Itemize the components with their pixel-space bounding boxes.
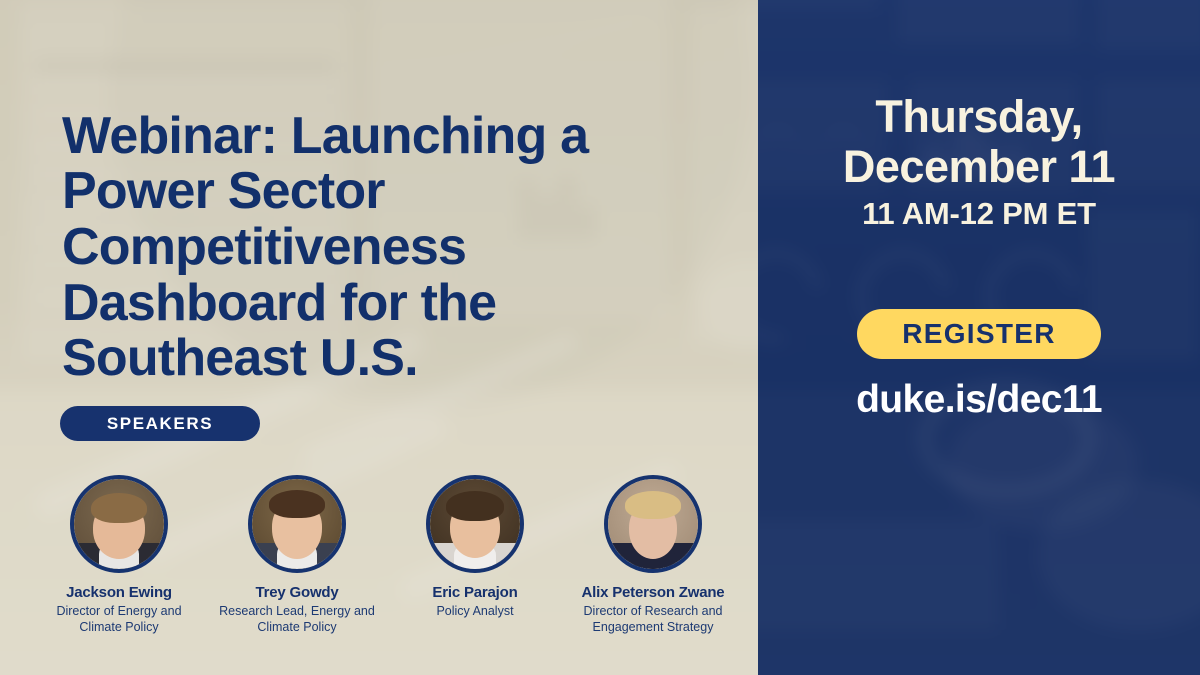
webinar-promo-poster: Webinar: Launching a Power Sector Compet… xyxy=(0,0,1200,675)
title-lead: Webinar: xyxy=(62,107,277,165)
speaker-title: Policy Analyst xyxy=(391,604,559,619)
avatar xyxy=(426,475,524,573)
speaker-title: Research Lead, Energy and Climate Policy xyxy=(213,604,381,635)
speakers-list: Jackson Ewing Director of Energy and Cli… xyxy=(30,475,745,635)
page-title: Webinar: Launching a Power Sector Compet… xyxy=(62,109,682,387)
speaker-card: Trey Gowdy Research Lead, Energy and Cli… xyxy=(208,475,386,635)
speaker-card: Jackson Ewing Director of Energy and Cli… xyxy=(30,475,208,635)
speaker-card: Alix Peterson Zwane Director of Research… xyxy=(564,475,742,635)
event-date-line1: Thursday, xyxy=(758,92,1200,142)
right-panel: Thursday, December 11 11 AM-12 PM ET REG… xyxy=(758,0,1200,675)
avatar xyxy=(70,475,168,573)
event-date-line2: December 11 xyxy=(758,142,1200,192)
speaker-name: Trey Gowdy xyxy=(255,584,338,601)
speaker-name: Jackson Ewing xyxy=(66,584,172,601)
speaker-card: Eric Parajon Policy Analyst xyxy=(386,475,564,635)
avatar xyxy=(604,475,702,573)
speaker-title: Director of Energy and Climate Policy xyxy=(35,604,203,635)
avatar xyxy=(248,475,346,573)
registration-url-link[interactable]: duke.is/dec11 xyxy=(758,378,1200,422)
speaker-title: Director of Research and Engagement Stra… xyxy=(569,604,737,635)
event-date-block: Thursday, December 11 11 AM-12 PM ET xyxy=(758,92,1200,232)
register-button[interactable]: REGISTER xyxy=(857,309,1101,359)
event-time: 11 AM-12 PM ET xyxy=(758,196,1200,232)
speakers-badge: SPEAKERS xyxy=(60,406,260,441)
left-panel: Webinar: Launching a Power Sector Compet… xyxy=(0,0,758,675)
speaker-name: Alix Peterson Zwane xyxy=(582,584,725,601)
speaker-name: Eric Parajon xyxy=(432,584,517,601)
